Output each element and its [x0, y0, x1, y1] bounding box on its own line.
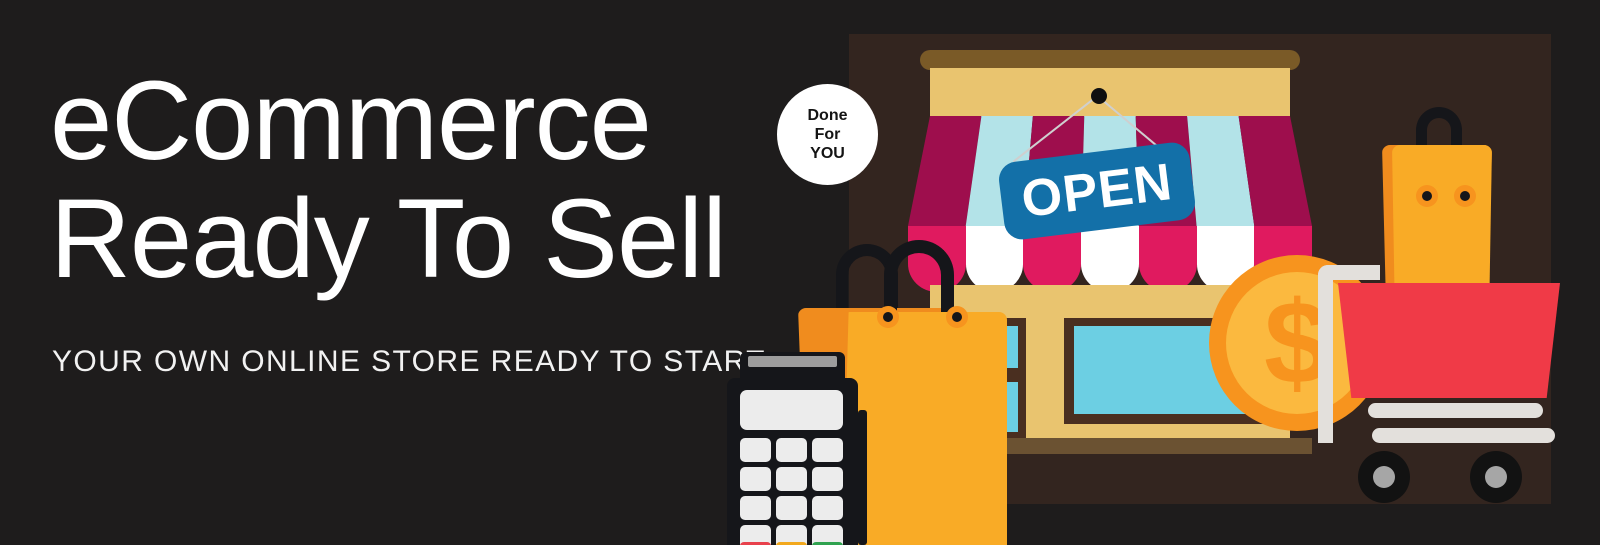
pos-terminal-icon — [722, 352, 867, 545]
shopping-cart-icon — [1310, 255, 1560, 500]
sign-hook-dot — [1091, 88, 1107, 104]
cart-bag-eyelet-left — [1416, 185, 1438, 207]
cart-bag-eyelet-right — [1454, 185, 1476, 207]
headline-line-1: eCommerce — [50, 58, 651, 183]
badge-line-2: For — [815, 125, 841, 144]
cart-lower-bar-2 — [1372, 428, 1555, 443]
pos-key-7[interactable] — [776, 496, 807, 520]
badge-line-3: YOU — [810, 144, 845, 163]
open-sign-label: OPEN — [1019, 156, 1176, 226]
done-for-you-badge[interactable]: Done For YOU — [777, 84, 878, 185]
page-title: eCommerce Ready To Sell — [50, 62, 770, 298]
store-cornice — [920, 50, 1300, 70]
pos-screen — [740, 390, 843, 430]
pos-key-2[interactable] — [812, 438, 843, 462]
badge-line-1: Done — [808, 106, 848, 125]
ecommerce-banner: eCommerce Ready To Sell YOUR OWN ONLINE … — [0, 0, 1600, 545]
headline-line-2: Ready To Sell — [50, 180, 770, 298]
pos-key-6[interactable] — [740, 496, 771, 520]
pos-side-edge — [858, 410, 867, 545]
pos-key-4[interactable] — [776, 467, 807, 491]
store-header-band — [930, 68, 1290, 117]
cart-wheel-right — [1470, 451, 1522, 503]
pos-key-0[interactable] — [740, 438, 771, 462]
pos-key-3[interactable] — [740, 467, 771, 491]
awning-scallop-4 — [1139, 226, 1197, 292]
awning-scallop-3 — [1081, 226, 1139, 292]
shopping-bag-eyelet-left — [877, 306, 899, 328]
shopping-bag-eyelet-right — [946, 306, 968, 328]
cart-wheel-left — [1358, 451, 1410, 503]
pos-key-1[interactable] — [776, 438, 807, 462]
pos-receipt-slot — [748, 356, 837, 367]
pos-keypad[interactable] — [740, 438, 843, 545]
pos-key-8[interactable] — [812, 496, 843, 520]
pos-key-5[interactable] — [812, 467, 843, 491]
page-subtitle: YOUR OWN ONLINE STORE READY TO START — [52, 345, 766, 379]
cart-lower-bar-1 — [1368, 403, 1543, 418]
